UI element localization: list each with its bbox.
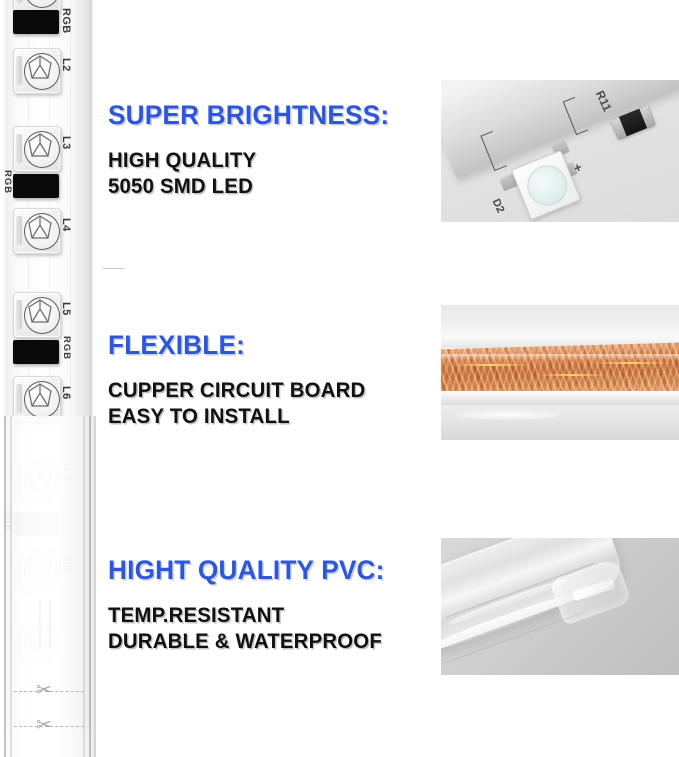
led-lens-icon [24,213,60,250]
led-lens-icon [24,0,60,8]
sleeve-ridge-4 [89,416,91,757]
led-lens-icon [24,297,60,334]
copper-highlight [536,374,607,376]
feature-line-1-pvc: TEMP.RESISTANT [108,603,385,629]
led-label-l5: L5 [60,302,72,316]
led-pad [16,0,22,3]
photo-copper-braid [441,305,679,440]
copper-sheen [441,354,679,361]
led-pad [16,216,22,245]
feature-line-1-flexible: CUPPER CIRCUIT BOARD [108,378,365,404]
feature-title-super-brightness: SUPER BRIGHTNESS: [108,100,389,131]
feature-line-2-super-brightness: 5050 SMD LED [108,174,389,200]
sleeve-ridge-3 [83,416,85,757]
led-package-l3 [13,126,61,172]
pvc-sleeve-overlay [0,416,96,757]
led-pad [16,384,22,413]
infographic-page: RGB L2 L3 RGB L4 [0,0,679,757]
feature-line-2-pvc: DURABLE & WATERPROOF [108,629,385,655]
feature-line-2-flexible: EASY TO INSTALL [108,404,365,430]
feature-title-flexible: FLEXIBLE: [108,330,365,361]
led-pad [16,300,22,329]
pvc-lower-wall [441,391,679,405]
led-package-l5 [13,292,61,338]
sleeve-ridge-5 [94,416,96,757]
sleeve-ridge-2 [10,416,12,757]
led-strip-illustration: RGB L2 L3 RGB L4 [0,0,100,757]
copper-circuit-band [441,342,679,397]
feature-line-1-super-brightness: HIGH QUALITY [108,148,389,174]
led-phosphor-dome [521,160,573,212]
led-label-l4: L4 [60,218,72,232]
feature-block-super-brightness: SUPER BRIGHTNESS: HIGH QUALITY 5050 SMD … [108,100,398,201]
led-label-l3: L3 [60,136,72,150]
led-pad [16,134,22,163]
scissors-icon-1: ✂ [36,681,52,700]
led-label-l2: L2 [60,58,72,72]
feature-block-flexible: FLEXIBLE: CUPPER CIRCUIT BOARD EASY TO I… [108,330,373,431]
chip-resistor-2 [13,174,59,198]
led-lens-icon [24,53,60,90]
feature-title-pvc: HIGHT QUALITY PVC: [108,555,385,586]
decorative-divider [103,268,125,269]
chip-resistor-1 [13,10,59,34]
led-lens-icon [24,381,60,418]
copper-highlight [593,362,669,364]
led-package-l4 [13,208,61,254]
sleeve-ridge-1 [4,416,6,757]
chip-resistor-3 [13,340,59,364]
led-package-l2 [13,48,61,94]
led-die-pattern-icon [23,0,57,5]
led-lens-icon [24,131,60,168]
feature-block-pvc: HIGHT QUALITY PVC: TEMP.RESISTANT DURABL… [108,555,393,656]
pvc-reflection [455,410,560,419]
led-label-l6: L6 [60,386,72,400]
photo-smd-led-macro: R11 D2 + [441,80,679,222]
led-pad [16,56,22,85]
scissors-icon-2: ✂ [36,716,52,735]
photo-pvc-sleeve-tip [441,538,679,675]
